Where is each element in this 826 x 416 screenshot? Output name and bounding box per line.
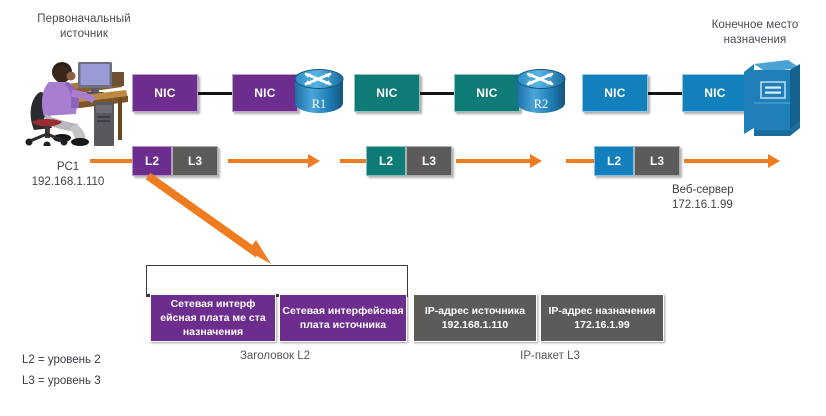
flow-arrow-in-2	[340, 159, 366, 163]
source-host-label: PC1 192.168.1.110	[8, 160, 128, 190]
router-r1-label: R1	[312, 97, 327, 111]
flow-arrow-1-2-head	[308, 154, 320, 168]
destination-caption: Конечное место назначения	[690, 18, 820, 48]
flow-arrow-1-2	[228, 159, 310, 163]
flow-arrow-2-3-head	[530, 154, 542, 168]
l3-packet-section-label: IP-пакет L3	[490, 350, 610, 362]
nic-5-label: NIC	[604, 86, 626, 100]
source-host-illustration	[16, 46, 134, 146]
link-nic3-nic4	[420, 92, 454, 95]
link-nic5-nic6	[648, 92, 682, 95]
nic-6: NIC	[682, 74, 748, 112]
legend: L2 = уровень 2 L3 = уровень 3	[22, 350, 101, 392]
flow-arrow-in-3	[566, 159, 594, 163]
destination-host-label: Веб-сервер 172.16.1.99	[672, 183, 802, 213]
nic-4-label: NIC	[476, 86, 498, 100]
source-host-ip: 192.168.1.110	[8, 175, 128, 190]
nic-5: NIC	[582, 74, 648, 112]
destination-host-ip: 172.16.1.99	[672, 198, 802, 213]
nic-4: NIC	[454, 74, 520, 112]
router-r2: R2	[515, 68, 567, 114]
source-host-name: PC1	[8, 160, 128, 175]
legend-item-l3: L3 = уровень 3	[22, 371, 101, 392]
legend-item-l2: L2 = уровень 2	[22, 350, 101, 371]
network-diagram: Первоначальный источник Конечное место н…	[0, 0, 826, 416]
detail-dest-nic: Сетевая интерф ейсная плата ме ста назна…	[150, 294, 276, 342]
frame-3: L2 L3	[594, 146, 680, 176]
flow-arrow-3-server	[684, 159, 770, 163]
nic-2: NIC	[232, 74, 298, 112]
frame-2-l3: L3	[406, 146, 452, 176]
detail-dst-ip: IP-адрес назначения 172.16.1.99	[540, 294, 664, 342]
nic-2-label: NIC	[254, 86, 276, 100]
frame-detail-row: Сетевая интерф ейсная плата ме ста назна…	[150, 294, 664, 342]
flow-arrow-3-server-head	[768, 154, 780, 168]
l2-header-section-label: Заголовок L2	[215, 350, 335, 362]
frame-2-l2: L2	[366, 146, 406, 176]
source-caption: Первоначальный источник	[14, 12, 154, 42]
flow-arrow-2-3	[456, 159, 532, 163]
frame-3-l3: L3	[634, 146, 680, 176]
nic-3: NIC	[354, 74, 420, 112]
l2-header-outline	[146, 265, 408, 297]
nic-3-label: NIC	[376, 86, 398, 100]
detail-src-nic: Сетевая интерфейсная плата источника	[279, 294, 407, 342]
router-r2-label: R2	[534, 97, 549, 111]
destination-host-name: Веб-сервер	[672, 183, 802, 198]
frame-3-l2: L2	[594, 146, 634, 176]
router-r1: R1	[293, 68, 345, 114]
destination-server-icon	[742, 58, 798, 132]
frame-2: L2 L3	[366, 146, 452, 176]
link-nic1-nic2	[198, 92, 232, 95]
nic-1-label: NIC	[154, 86, 176, 100]
nic-1: NIC	[132, 74, 198, 112]
nic-6-label: NIC	[704, 86, 726, 100]
detail-src-ip: IP-адрес источника 192.168.1.110	[413, 294, 537, 342]
callout-arrow	[140, 172, 290, 270]
